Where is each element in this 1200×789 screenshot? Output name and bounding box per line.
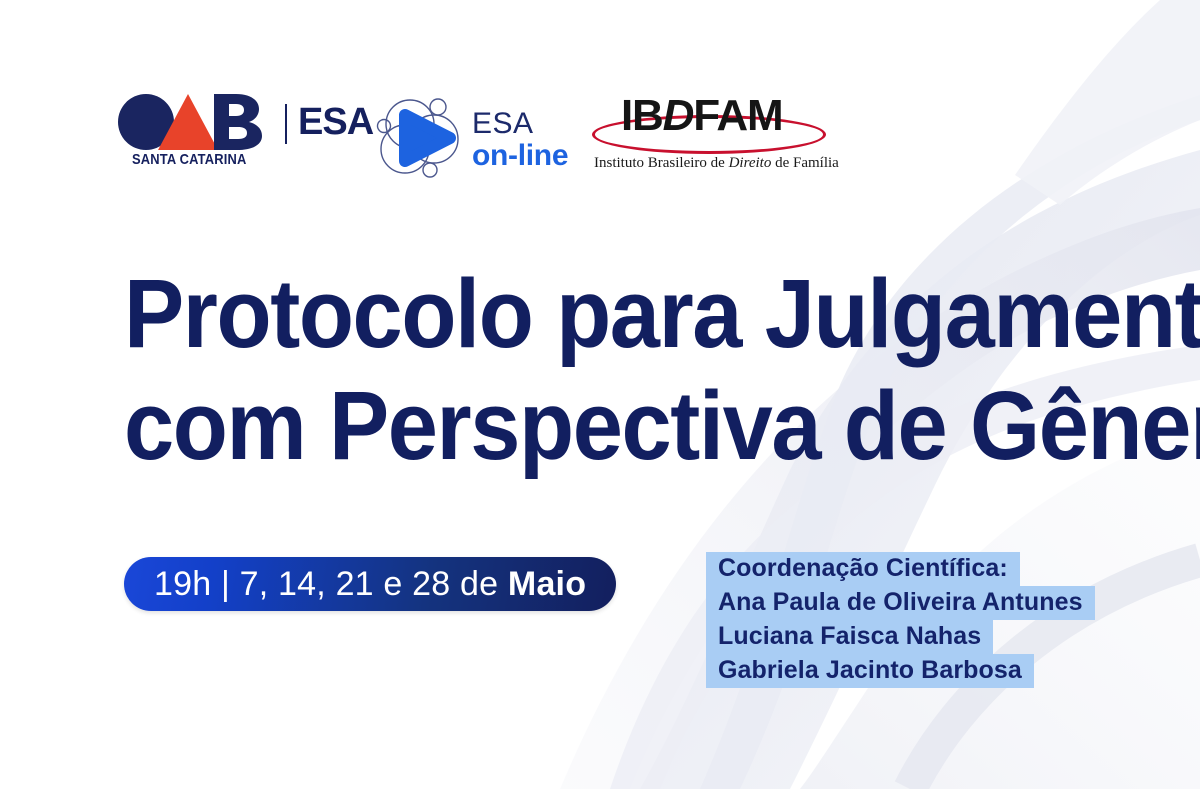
date-time-prefix: 19h | 7, 14, 21 e 28 de: [154, 565, 508, 603]
ibdfam-wordmark: IBDFAM: [592, 93, 822, 151]
logo-oab-esa-santa-catarina: SANTA CATARINA ESA: [118, 94, 350, 180]
oab-letters-icon: [118, 94, 278, 150]
page-title-line-1: Protocolo para Julgamento: [124, 258, 1045, 370]
coordination-name-1: Ana Paula de Oliveira Antunes: [706, 586, 1095, 620]
esa-online-line2: on-line: [472, 139, 568, 172]
coordination-name-3: Gabriela Jacinto Barbosa: [706, 654, 1034, 688]
page-title-line-2: com Perspectiva de Gênero: [124, 370, 1045, 482]
ibdfam-subtitle-part1: Instituto Brasileiro de: [594, 155, 729, 171]
oab-divider: [285, 104, 287, 144]
esa-online-play-circles-icon: [372, 94, 472, 182]
esa-online-line1: ESA: [472, 108, 568, 139]
logo-esa-online: ESA on-line: [372, 94, 562, 184]
ibdfam-word-part2: D: [663, 91, 694, 140]
coordination-heading: Coordenação Científica:: [706, 552, 1020, 586]
coordination-name-2: Luciana Faisca Nahas: [706, 620, 993, 654]
ibdfam-subtitle: Instituto Brasileiro de Direito de Famíl…: [594, 155, 839, 172]
event-poster: SANTA CATARINA ESA ESA on-line: [0, 0, 1200, 789]
logo-ibdfam: IBDFAM Instituto Brasileiro de Direito d…: [592, 93, 822, 183]
esa-online-wordmark: ESA on-line: [472, 108, 568, 172]
date-month: Maio: [508, 565, 586, 603]
date-time-text: 19h | 7, 14, 21 e 28 de Maio: [154, 567, 586, 601]
scientific-coordination-block: Coordenação Científica: Ana Paula de Oli…: [706, 552, 1095, 688]
ibdfam-subtitle-part3: de Família: [771, 155, 839, 171]
oab-subtitle: SANTA CATARINA: [132, 151, 246, 168]
ibdfam-word: IBDFAM: [621, 93, 782, 139]
ibdfam-subtitle-part2: Direito: [729, 155, 772, 171]
ibdfam-word-part3: FAM: [693, 91, 782, 140]
oab-esa-label: ESA: [298, 103, 373, 141]
ibdfam-word-part1: IB: [621, 91, 663, 140]
page-title: Protocolo para Julgamento com Perspectiv…: [124, 258, 1045, 482]
date-time-badge: 19h | 7, 14, 21 e 28 de Maio: [124, 557, 616, 611]
logo-row: SANTA CATARINA ESA ESA on-line: [0, 88, 1200, 188]
